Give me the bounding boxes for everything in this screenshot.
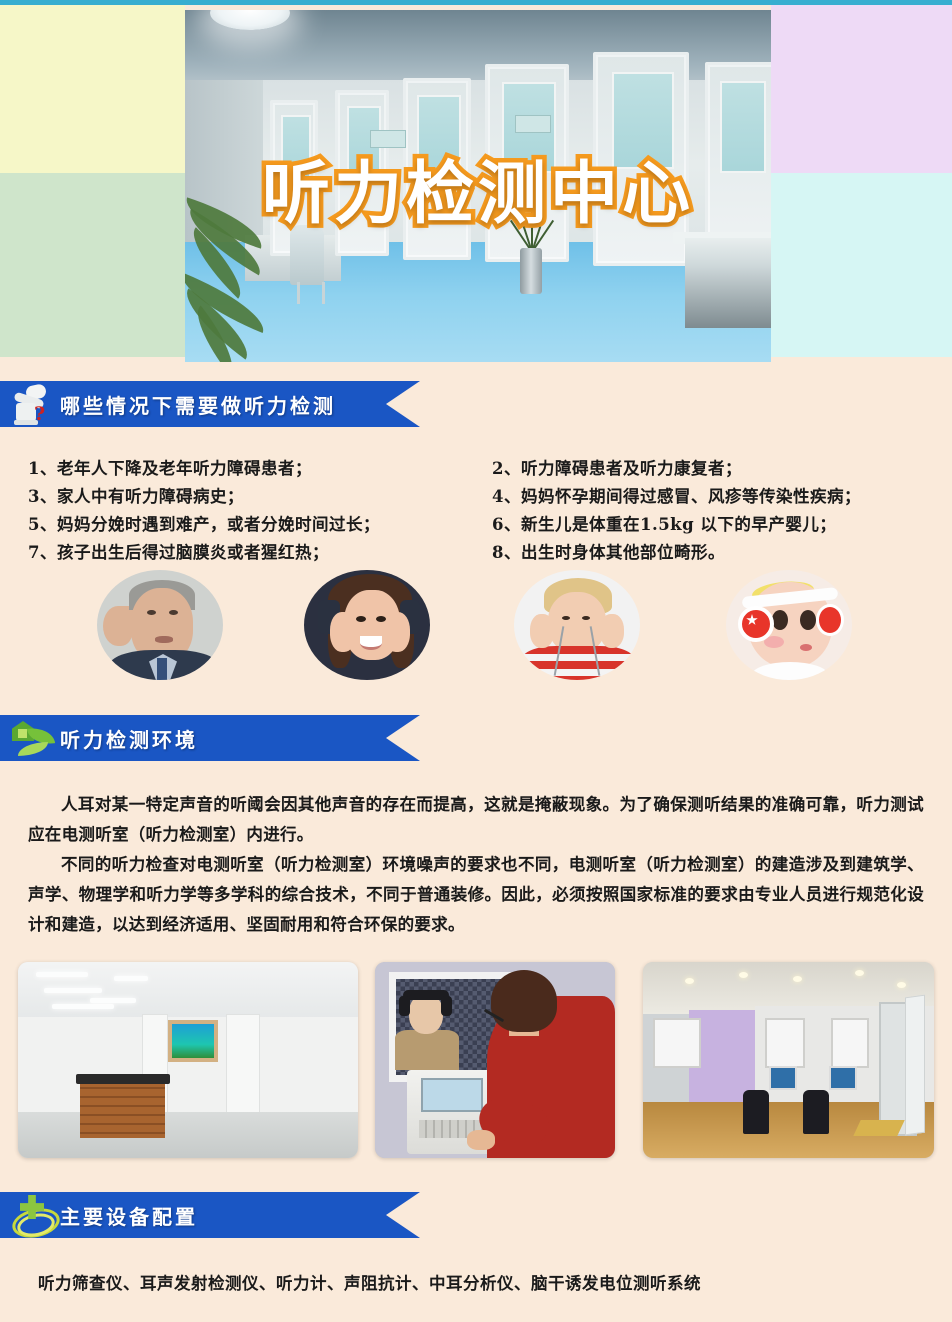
section-banner-environment[interactable]: 听力检测环境: [0, 715, 420, 761]
green-cross-icon: [0, 1192, 60, 1238]
paragraph: 不同的听力检查对电测听室（听力检测室）环境噪声的要求也不同，电测听室（听力检测室…: [28, 850, 924, 940]
condition-photo-row: [0, 570, 952, 690]
equipment-line: 听力筛查仪、耳声发射检测仪、听力计、声阻抗计、中耳分析仪、脑干诱发电位测听系统: [38, 1270, 918, 1294]
header-band: 听力检测中心: [0, 5, 952, 360]
list-item: 5、妈妈分娩时遇到难产，或者分娩时间过长；: [28, 511, 380, 539]
section-banner-when-label: 哪些情况下需要做听力检测: [60, 390, 336, 419]
hero-photo: 听力检测中心: [185, 10, 771, 362]
list-item: 1、老年人下降及老年听力障碍患者；: [28, 455, 380, 483]
color-block-purple: [771, 5, 952, 173]
section-banner-equipment-label: 主要设备配置: [60, 1201, 198, 1230]
color-block-cyan: [771, 173, 952, 357]
environment-photo-row: [0, 962, 952, 1162]
toddler-with-earphones-photo: [514, 570, 640, 680]
conditions-list-left-column: 1、老年人下降及老年听力障碍患者； 3、家人中有听力障碍病史； 5、妈妈分娩时遇…: [28, 455, 380, 567]
section-banner-equipment[interactable]: 主要设备配置: [0, 1192, 420, 1238]
list-item: 4、妈妈怀孕期间得过感冒、风疹等传染性疾病；: [492, 483, 861, 511]
elderly-man-cupping-ear-photo: [97, 570, 223, 680]
environment-description: 人耳对某一特定声音的听阈会因其他声音的存在而提高，这就是掩蔽现象。为了确保测听结…: [28, 790, 924, 940]
color-block-yellow: [0, 5, 185, 173]
banner-notch-icon: [386, 715, 420, 761]
banner-notch-icon: [386, 1192, 420, 1238]
color-block-green: [0, 173, 185, 357]
list-item: 3、家人中有听力障碍病史；: [28, 483, 380, 511]
list-item: 7、孩子出生后得过脑膜炎或者猩红热；: [28, 539, 380, 567]
reception-hall-photo: [18, 962, 358, 1158]
page-title: 听力检测中心: [185, 138, 771, 237]
list-item: 6、新生儿是体重在1.5kg 以下的早产婴儿；: [492, 511, 861, 539]
poster-page: 听力检测中心 ? 哪些情况下需要做听力检测 1、老年人下降及老年听力障碍患者； …: [0, 0, 952, 1322]
audiometry-testing-photo: [375, 962, 615, 1158]
testing-booth-room-photo: [643, 962, 934, 1158]
paragraph: 人耳对某一特定声音的听阈会因其他声音的存在而提高，这就是掩蔽现象。为了确保测听结…: [28, 790, 924, 850]
woman-with-headphones-photo: [304, 570, 430, 680]
section-banner-environment-label: 听力检测环境: [60, 724, 198, 753]
robot-question-icon: ?: [0, 381, 60, 427]
list-item: 2、听力障碍患者及听力康复者；: [492, 455, 861, 483]
conditions-list-right-column: 2、听力障碍患者及听力康复者； 4、妈妈怀孕期间得过感冒、风疹等传染性疾病； 6…: [492, 455, 861, 567]
eco-leaf-house-icon: [0, 715, 60, 761]
section-banner-when[interactable]: ? 哪些情况下需要做听力检测: [0, 381, 420, 427]
doll-with-headphones-photo: [726, 570, 852, 680]
list-item: 8、出生时身体其他部位畸形。: [492, 539, 861, 567]
banner-notch-icon: [386, 381, 420, 427]
